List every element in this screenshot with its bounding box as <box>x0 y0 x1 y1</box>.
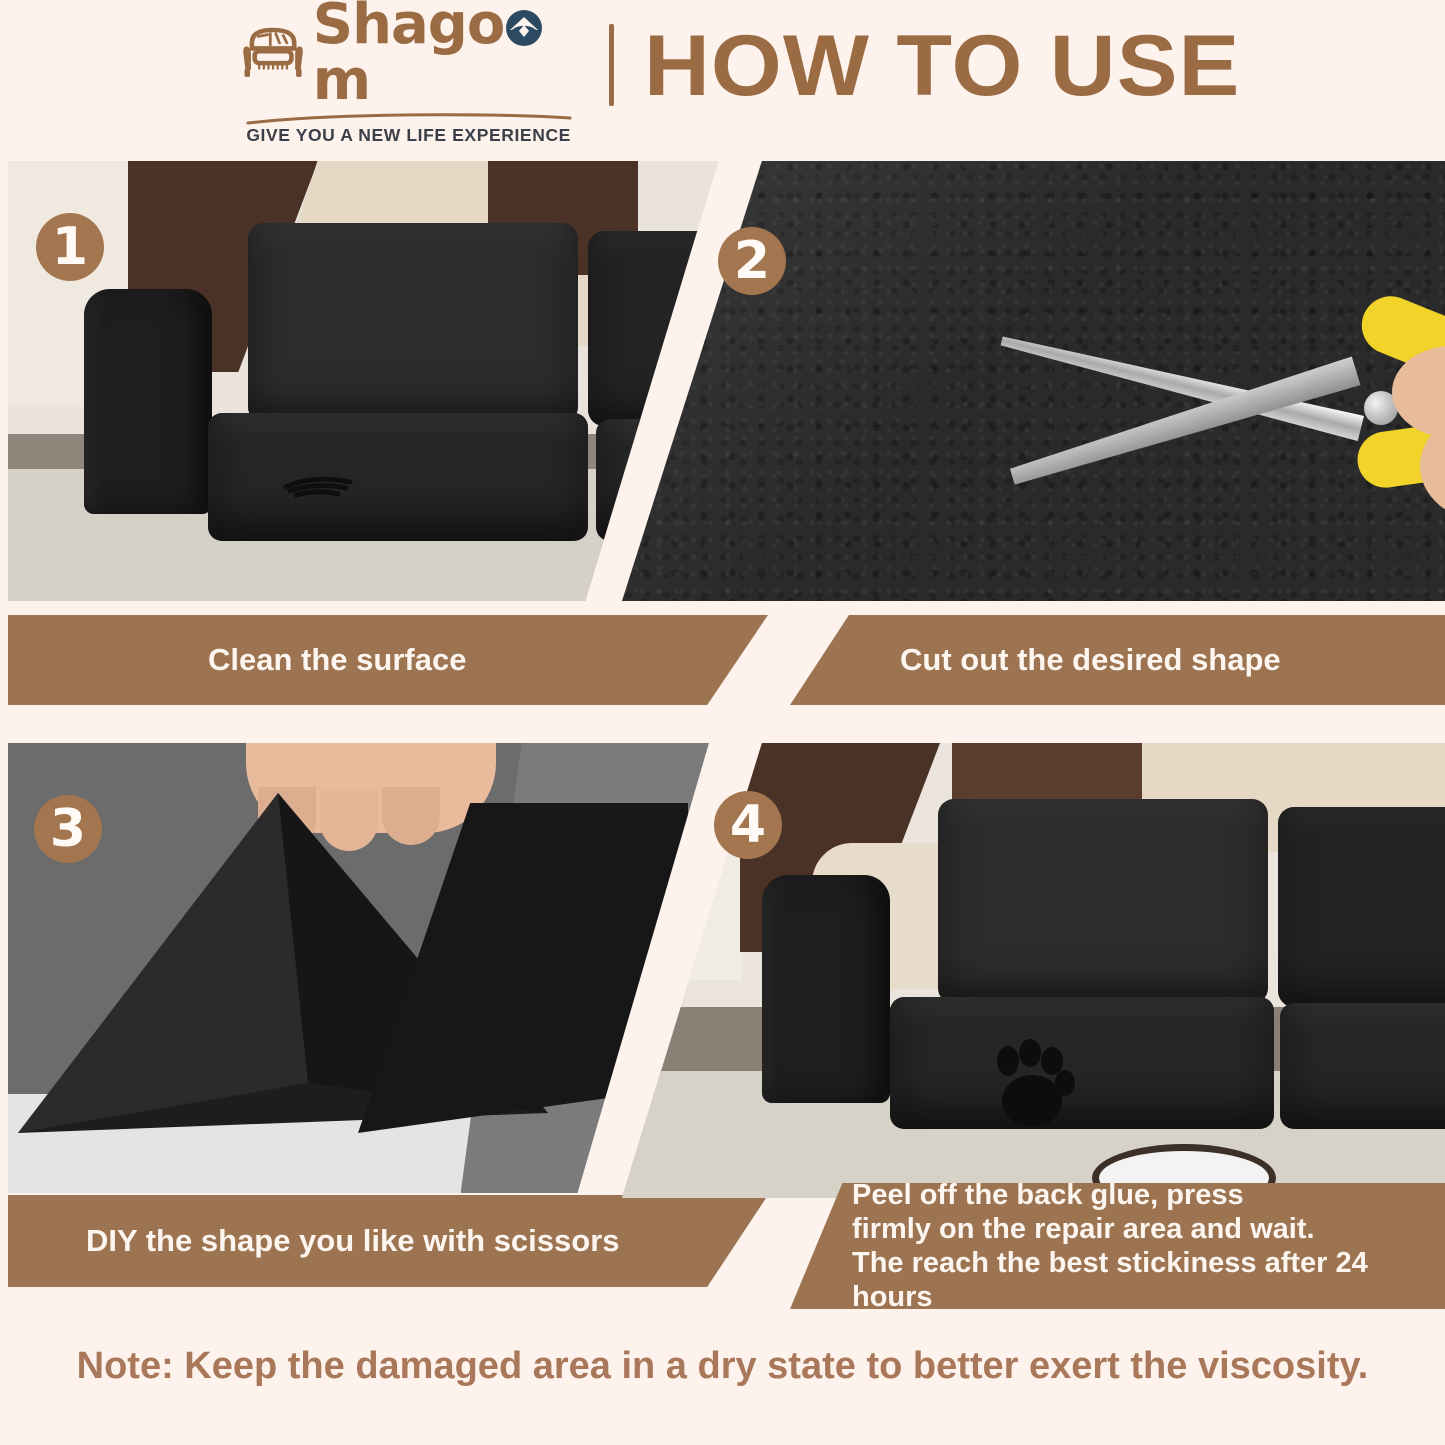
step-1-caption-text: Clean the surface <box>208 642 466 679</box>
step-2-photo: 2 <box>610 143 1445 613</box>
step-2-badge: 2 <box>718 227 786 295</box>
step-1-caption: Clean the surface <box>8 615 768 705</box>
swoosh-divider <box>244 112 574 126</box>
step-4-caption-text: Peel off the back glue, press firmly on … <box>852 1178 1445 1315</box>
step-3-caption-text: DIY the shape you like with scissors <box>86 1223 620 1260</box>
footer-note: Note: Keep the damaged area in a dry sta… <box>0 1345 1445 1388</box>
step-2-caption-text: Cut out the desired shape <box>900 642 1281 679</box>
step-4-caption: Peel off the back glue, press firmly on … <box>790 1183 1445 1309</box>
page-title: HOW TO USE <box>644 23 1240 109</box>
step-4-badge: 4 <box>714 791 782 859</box>
logo-row: Shagom <box>239 0 579 109</box>
step-4-photo: 4 <box>610 743 1445 1213</box>
damage-scratch-icon <box>280 469 360 499</box>
step-1-badge: 1 <box>36 213 104 281</box>
step-2-caption: Cut out the desired shape <box>790 615 1445 705</box>
tagline-wrap: GIVE YOU A NEW LIFE EXPERIENCE <box>244 112 574 146</box>
brand-name-text: Shagom <box>313 0 579 109</box>
brand-logo: Shagom GIVE YOU A NEW LIFE EXPERIENCE <box>239 0 579 146</box>
step-3-badge: 3 <box>34 795 102 863</box>
page-header: Shagom GIVE YOU A NEW LIFE EXPERIENCE HO… <box>0 0 1445 143</box>
brand-name: Shagom <box>313 0 579 109</box>
sofa-icon <box>239 22 307 84</box>
header-divider <box>609 24 614 106</box>
steps-grid: 1 Clean the surface <box>0 143 1445 1323</box>
brand-eye-mark-icon <box>505 9 543 47</box>
paw-patch-icon <box>990 1039 1076 1131</box>
